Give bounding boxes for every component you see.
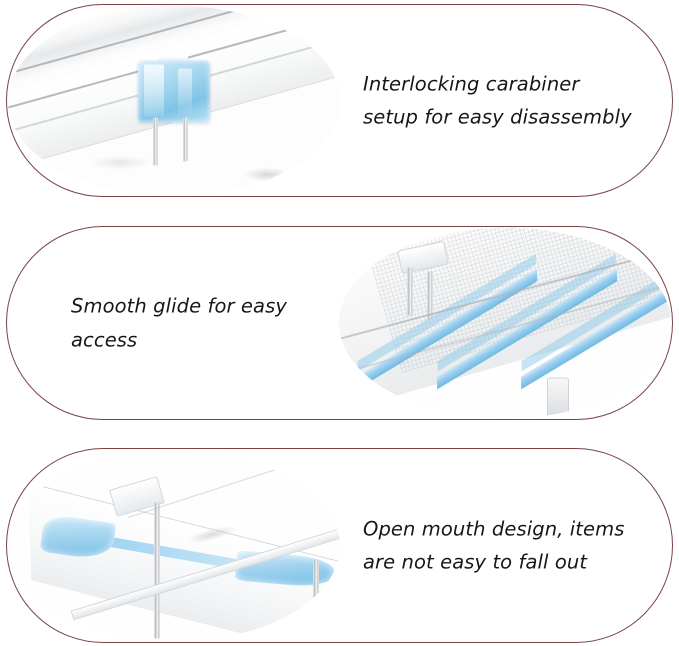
product-photo-carabiner: [8, 5, 340, 196]
carabiner-clip-part: [138, 60, 210, 122]
feature-caption-smooth-glide: Smooth glide for easy access: [71, 289, 361, 356]
feature-panel-interlocking-carabiner: Interlocking carabiner setup for easy di…: [6, 4, 673, 197]
feature-panel-open-mouth-design: Open mouth design, items are not easy to…: [6, 448, 673, 643]
product-photo-open-mouth: [8, 450, 340, 641]
feature-panel-smooth-glide: Smooth glide for easy access: [6, 226, 673, 420]
feature-highlight-list: Interlocking carabiner setup for easy di…: [0, 0, 679, 646]
product-photo-smooth-glide: [339, 228, 671, 419]
feature-caption-interlocking-carabiner: Interlocking carabiner setup for easy di…: [363, 67, 663, 134]
feature-caption-open-mouth-design: Open mouth design, items are not easy to…: [363, 512, 663, 579]
